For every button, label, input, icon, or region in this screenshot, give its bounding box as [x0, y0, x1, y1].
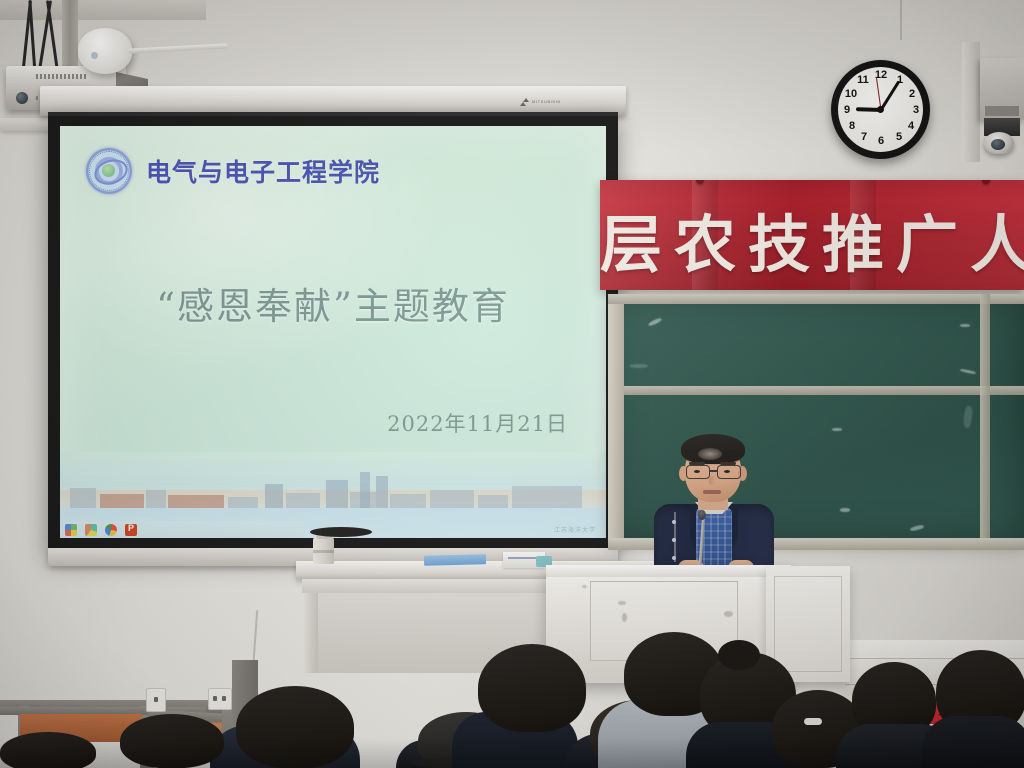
chrome-icon[interactable] — [105, 524, 117, 536]
panorama-building — [478, 495, 508, 508]
microphone-head — [698, 510, 706, 520]
flask-cap — [316, 530, 331, 539]
red-banner: 层农技推广人 — [600, 180, 1024, 290]
board-frame — [608, 294, 624, 542]
banner-tack — [982, 180, 990, 184]
clock-numeral: 7 — [857, 131, 871, 143]
chalk-smudge — [630, 364, 648, 368]
panorama-building — [326, 480, 348, 508]
lectern-scuff — [582, 585, 587, 588]
classroom-photo-scene: MITSUBISHI 电气与电子工程学院 “感恩奉献”主题教育 2022年11月… — [0, 0, 1024, 768]
app-icon[interactable] — [85, 524, 97, 536]
audience-hair-bun — [718, 640, 760, 670]
chalk-smudge — [648, 317, 662, 327]
app-icon[interactable] — [65, 524, 77, 536]
dome-security-camera — [984, 132, 1014, 154]
wall-clock: 12 1 2 3 4 5 6 7 8 9 10 11 — [831, 60, 930, 159]
panorama-building — [228, 497, 258, 508]
cabinet-seam — [774, 576, 842, 672]
chalk-smudge — [832, 428, 842, 431]
lectern-scuff — [724, 611, 733, 617]
jacket-button — [672, 538, 676, 542]
lectern-scuff — [622, 613, 627, 622]
equipment-panel — [985, 106, 1019, 116]
outlet-slot — [222, 696, 226, 701]
projection-screen-frame: 电气与电子工程学院 “感恩奉献”主题教育 2022年11月21日 — [48, 112, 618, 552]
wall-pillar-edge — [962, 42, 980, 162]
panorama-building — [430, 490, 474, 508]
panorama-building — [100, 494, 144, 508]
presenter-eye — [694, 470, 700, 473]
slide-org-name: 电气与电子工程学院 — [146, 153, 380, 189]
chalk-smudge — [840, 508, 850, 512]
desktop-taskbar[interactable] — [60, 521, 305, 538]
blue-folder — [424, 554, 486, 566]
clock-center-pin — [877, 106, 884, 113]
powerpoint-icon[interactable] — [125, 524, 137, 536]
panorama-building — [146, 490, 166, 508]
slide-header: 电气与电子工程学院 — [86, 148, 380, 194]
banner-text: 层农技推广人 — [600, 194, 1024, 284]
presenter-eye — [724, 470, 730, 473]
presentation-slide: 电气与电子工程学院 “感恩奉献”主题教育 2022年11月21日 — [60, 126, 606, 538]
board-divider — [624, 386, 1024, 395]
clock-numeral: 10 — [844, 88, 858, 100]
wall-crack — [900, 0, 902, 40]
slide-title: “感恩奉献”主题教育 — [60, 276, 606, 330]
clock-numeral: 8 — [845, 120, 859, 132]
clock-numeral: 6 — [874, 135, 888, 147]
clock-numeral: 11 — [856, 74, 870, 86]
wall-outlet[interactable] — [146, 688, 166, 712]
clock-numeral: 2 — [905, 88, 919, 100]
jacket-button — [672, 520, 676, 524]
board-divider — [980, 294, 990, 542]
outlet-slot — [213, 696, 217, 701]
thermos-flask — [313, 537, 334, 564]
lectern-scuff — [618, 601, 626, 605]
lectern-top — [546, 565, 791, 577]
clock-numeral: 9 — [840, 104, 854, 116]
screen-brand-label: MITSUBISHI — [532, 99, 561, 104]
projector-lens — [16, 92, 28, 104]
audience-head — [478, 644, 586, 732]
panorama-building — [70, 488, 96, 508]
panorama-building — [286, 493, 320, 508]
clock-numeral: 3 — [909, 104, 923, 116]
chalk-smudge — [910, 524, 925, 531]
wall-outlet[interactable] — [208, 688, 232, 710]
panorama-building — [168, 495, 224, 508]
three-diamond-icon — [520, 98, 529, 106]
forehead-highlight — [698, 448, 722, 460]
clock-numeral: 4 — [904, 120, 918, 132]
desk-leg — [304, 593, 318, 673]
presenter-nose — [709, 476, 715, 485]
panorama-building — [390, 494, 426, 508]
projector-vent — [36, 74, 88, 79]
wall-equipment-box — [980, 58, 1024, 120]
school-seal-logo — [86, 148, 132, 194]
outlet-slot — [154, 697, 158, 702]
slide-panorama-image: 江苏海洋大学 — [60, 452, 606, 538]
panorama-building — [360, 472, 370, 508]
panorama-building — [512, 486, 582, 508]
slide-date: 2022年11月21日 — [387, 408, 568, 438]
presenter-mouth — [703, 490, 721, 494]
seal-core-icon — [102, 164, 115, 177]
presenter — [648, 432, 778, 572]
board-frame — [608, 294, 1024, 304]
foreground-vignette — [0, 738, 1024, 768]
panorama-building — [376, 476, 388, 508]
hair-tie — [804, 718, 822, 725]
panorama-building — [265, 484, 283, 508]
clock-face: 12 1 2 3 4 5 6 7 8 9 10 11 — [838, 67, 923, 152]
screen-brand-logo: MITSUBISHI — [520, 97, 561, 106]
chalk-smudge — [963, 406, 973, 429]
wifi-access-point — [78, 28, 132, 74]
jacket-button — [672, 556, 676, 560]
chalk-smudge — [960, 324, 970, 327]
glasses-bridge — [709, 470, 718, 472]
flask-band — [313, 550, 334, 553]
chalk-smudge — [960, 368, 976, 374]
clock-second-hand — [875, 77, 881, 110]
panorama-watermark: 江苏海洋大学 — [554, 525, 596, 534]
clock-numeral: 5 — [892, 131, 906, 143]
